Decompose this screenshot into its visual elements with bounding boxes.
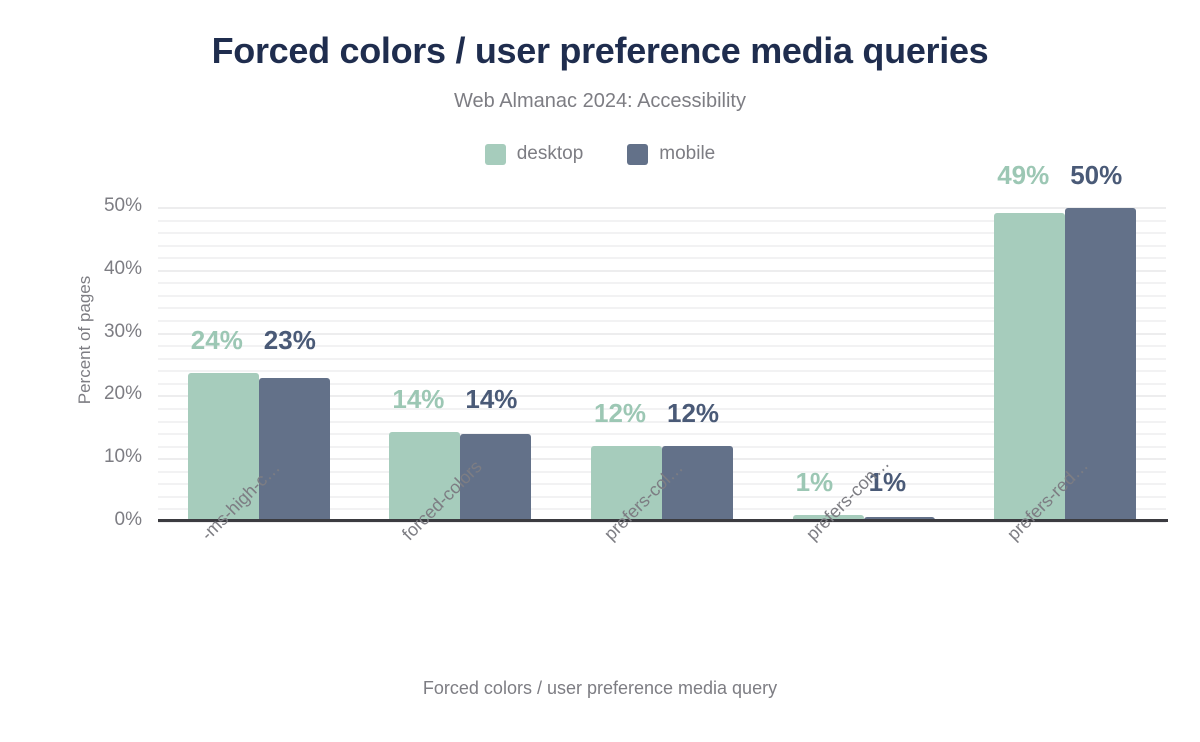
bar-desktop[interactable] <box>994 213 1065 521</box>
value-label-desktop: 14% <box>392 384 444 415</box>
value-label-mobile: 50% <box>1070 160 1122 191</box>
legend-swatch-mobile-icon <box>627 144 648 165</box>
y-axis-tick-label: 50% <box>60 195 142 217</box>
y-axis-tick-label: 40% <box>60 258 142 280</box>
value-label-mobile: 14% <box>465 384 517 415</box>
page-title: Forced colors / user preference media qu… <box>0 30 1200 72</box>
gridline <box>158 207 1166 209</box>
bar-mobile[interactable] <box>259 378 330 521</box>
value-label-desktop: 49% <box>997 160 1049 191</box>
value-label-desktop: 1% <box>796 467 834 498</box>
legend-label-mobile: mobile <box>659 143 715 165</box>
y-axis-tick-label: 0% <box>60 509 142 531</box>
legend-label-desktop: desktop <box>517 143 584 165</box>
value-label-desktop: 24% <box>191 325 243 356</box>
legend-item-mobile[interactable]: mobile <box>627 143 715 165</box>
legend-swatch-desktop-icon <box>485 144 506 165</box>
y-axis-tick-label: 10% <box>60 446 142 468</box>
y-axis-tick-label: 30% <box>60 321 142 343</box>
x-axis-label: Forced colors / user preference media qu… <box>0 678 1200 699</box>
value-label-desktop: 12% <box>594 398 646 429</box>
value-label-mobile: 23% <box>264 325 316 356</box>
legend-item-desktop[interactable]: desktop <box>485 143 584 165</box>
y-axis-tick-label: 20% <box>60 383 142 405</box>
value-label-mobile: 12% <box>667 398 719 429</box>
chart-subtitle: Web Almanac 2024: Accessibility <box>0 90 1200 113</box>
